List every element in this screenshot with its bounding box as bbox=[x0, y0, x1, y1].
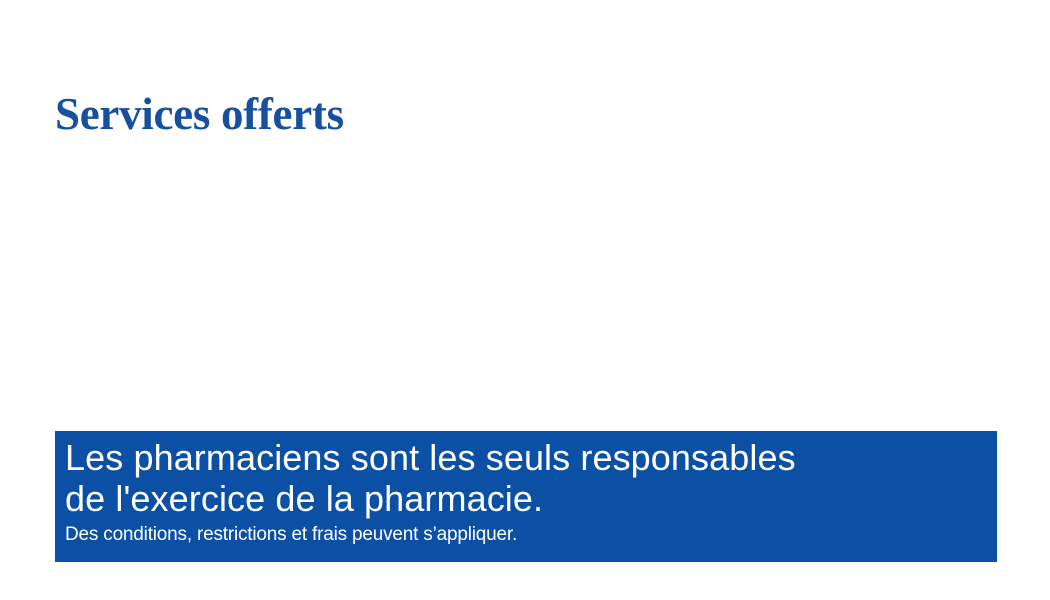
slide-canvas: Services offerts Les pharmaciens sont le… bbox=[0, 0, 1050, 600]
callout-heading: Les pharmaciens sont les seuls responsab… bbox=[65, 437, 985, 519]
callout-banner: Les pharmaciens sont les seuls responsab… bbox=[55, 431, 997, 562]
callout-subtext: Des conditions, restrictions et frais pe… bbox=[65, 523, 985, 546]
slide-content-area bbox=[55, 130, 997, 425]
